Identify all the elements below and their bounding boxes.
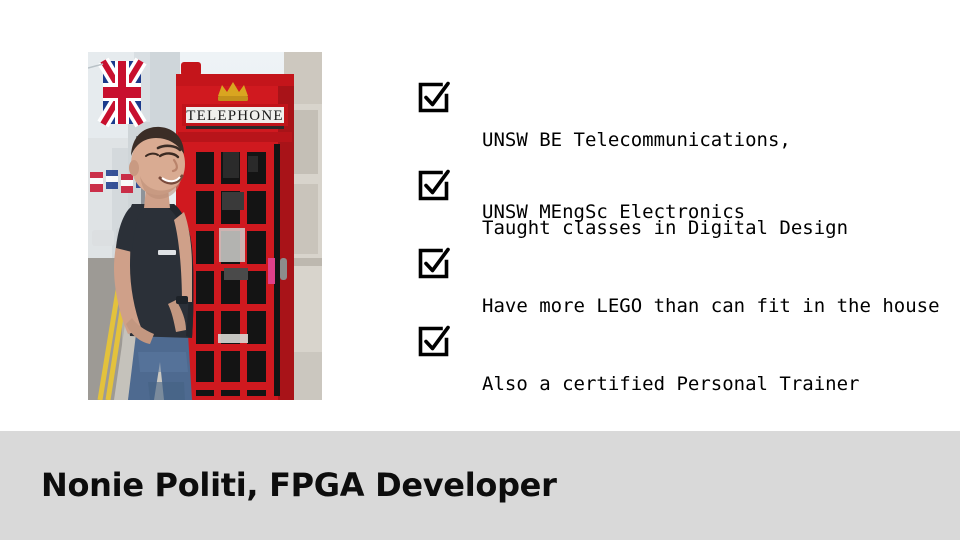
list-item-line: Taught classes in Digital Design bbox=[482, 216, 848, 240]
list-item-line: Also a certified Personal Trainer bbox=[482, 372, 928, 396]
checkbox-checked-icon bbox=[415, 323, 451, 359]
page-title: Nonie Politi, FPGA Developer bbox=[41, 466, 557, 504]
profile-photo: TELEPHONE bbox=[88, 52, 322, 400]
photo-illustration: TELEPHONE bbox=[88, 52, 322, 400]
list-item-line: UNSW BE Telecommunications, bbox=[482, 128, 791, 152]
telephone-box: TELEPHONE bbox=[176, 62, 294, 400]
slide: TELEPHONE bbox=[0, 0, 960, 540]
checkbox-checked-icon bbox=[415, 245, 451, 281]
union-jack-flag bbox=[103, 61, 141, 124]
checkbox-checked-icon bbox=[415, 79, 451, 115]
checkbox-checked-icon bbox=[415, 167, 451, 203]
list-item-line: Have more LEGO than can fit in the house bbox=[482, 294, 940, 318]
svg-text:TELEPHONE: TELEPHONE bbox=[186, 108, 283, 124]
